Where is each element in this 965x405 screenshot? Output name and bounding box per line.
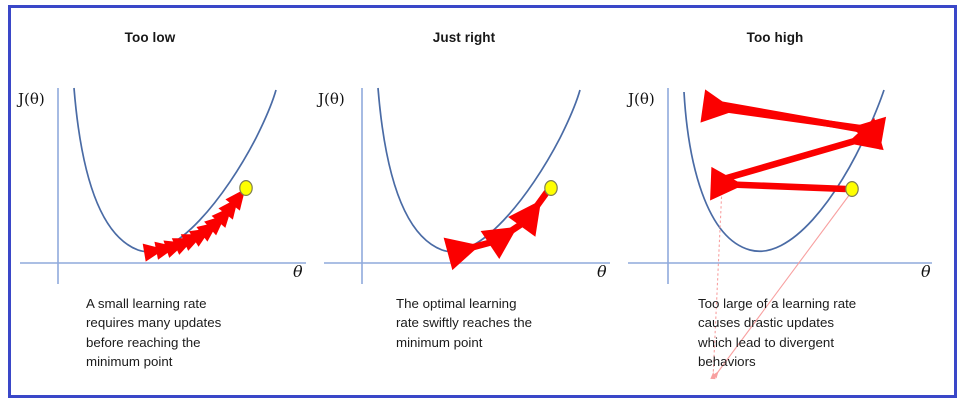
panel-caption: Too large of a learning rate causes dras… [698, 294, 938, 372]
start-dot [545, 181, 557, 196]
panel-caption: The optimal learning rate swiftly reache… [396, 294, 616, 352]
learning-rate-figure: Too low J(θ) θ [0, 0, 965, 405]
start-dot [846, 182, 858, 197]
panel-too-high: Too high J(θ) θ [622, 12, 942, 387]
divergent-step-arrows [710, 103, 876, 189]
cost-curve [378, 88, 580, 252]
axes [324, 88, 610, 284]
panel-just-right: Just right J(θ) θ The optimal learning r… [318, 12, 618, 387]
panel-caption: A small learning rate requires many upda… [86, 294, 306, 372]
gradient-step-arrows [148, 193, 242, 252]
axes [20, 88, 306, 284]
panel-too-low: Too low J(θ) θ [14, 12, 314, 387]
cost-curve [74, 88, 276, 252]
start-dot [240, 181, 252, 196]
